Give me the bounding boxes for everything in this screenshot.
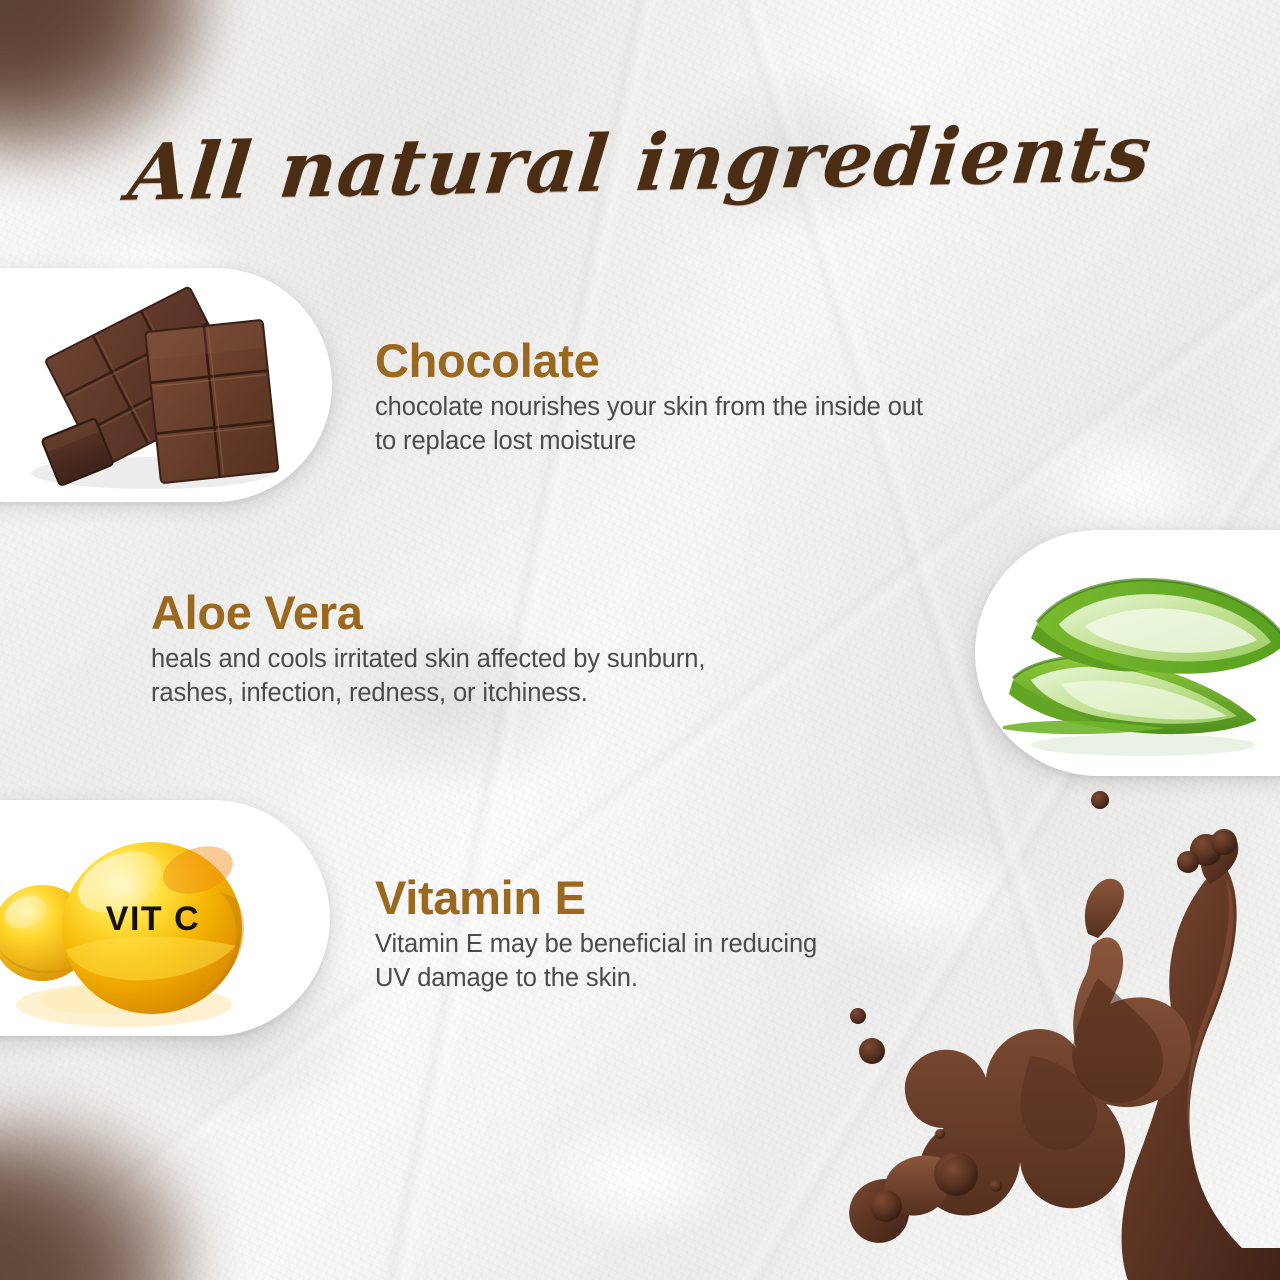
aloe-vera-text-block: Aloe Vera heals and cools irritated skin… [151,588,931,710]
chocolate-heading: Chocolate [375,336,1145,385]
vitamin-image-card: VIT C [0,800,330,1036]
aloe-vera-slices-icon [975,530,1280,776]
aloe-vera-image-card [975,530,1280,776]
chocolate-description: chocolate nourishes your skin from the i… [375,391,1145,458]
aloe-vera-heading: Aloe Vera [151,588,931,637]
chocolate-image-card [0,268,332,502]
aloe-vera-description: heals and cools irritated skin affected … [151,643,931,710]
vitamin-e-heading: Vitamin E [375,873,1015,922]
chocolate-bars-icon [0,268,332,502]
vitamin-e-text-block: Vitamin E Vitamin E may be beneficial in… [375,873,1015,995]
vitamin-e-description: Vitamin E may be beneficial in reducing … [375,928,1015,995]
ingredients-poster: All natural ingredients [0,0,1280,1280]
vitamin-capsule-icon [0,800,330,1036]
chocolate-text-block: Chocolate chocolate nourishes your skin … [375,336,1145,458]
